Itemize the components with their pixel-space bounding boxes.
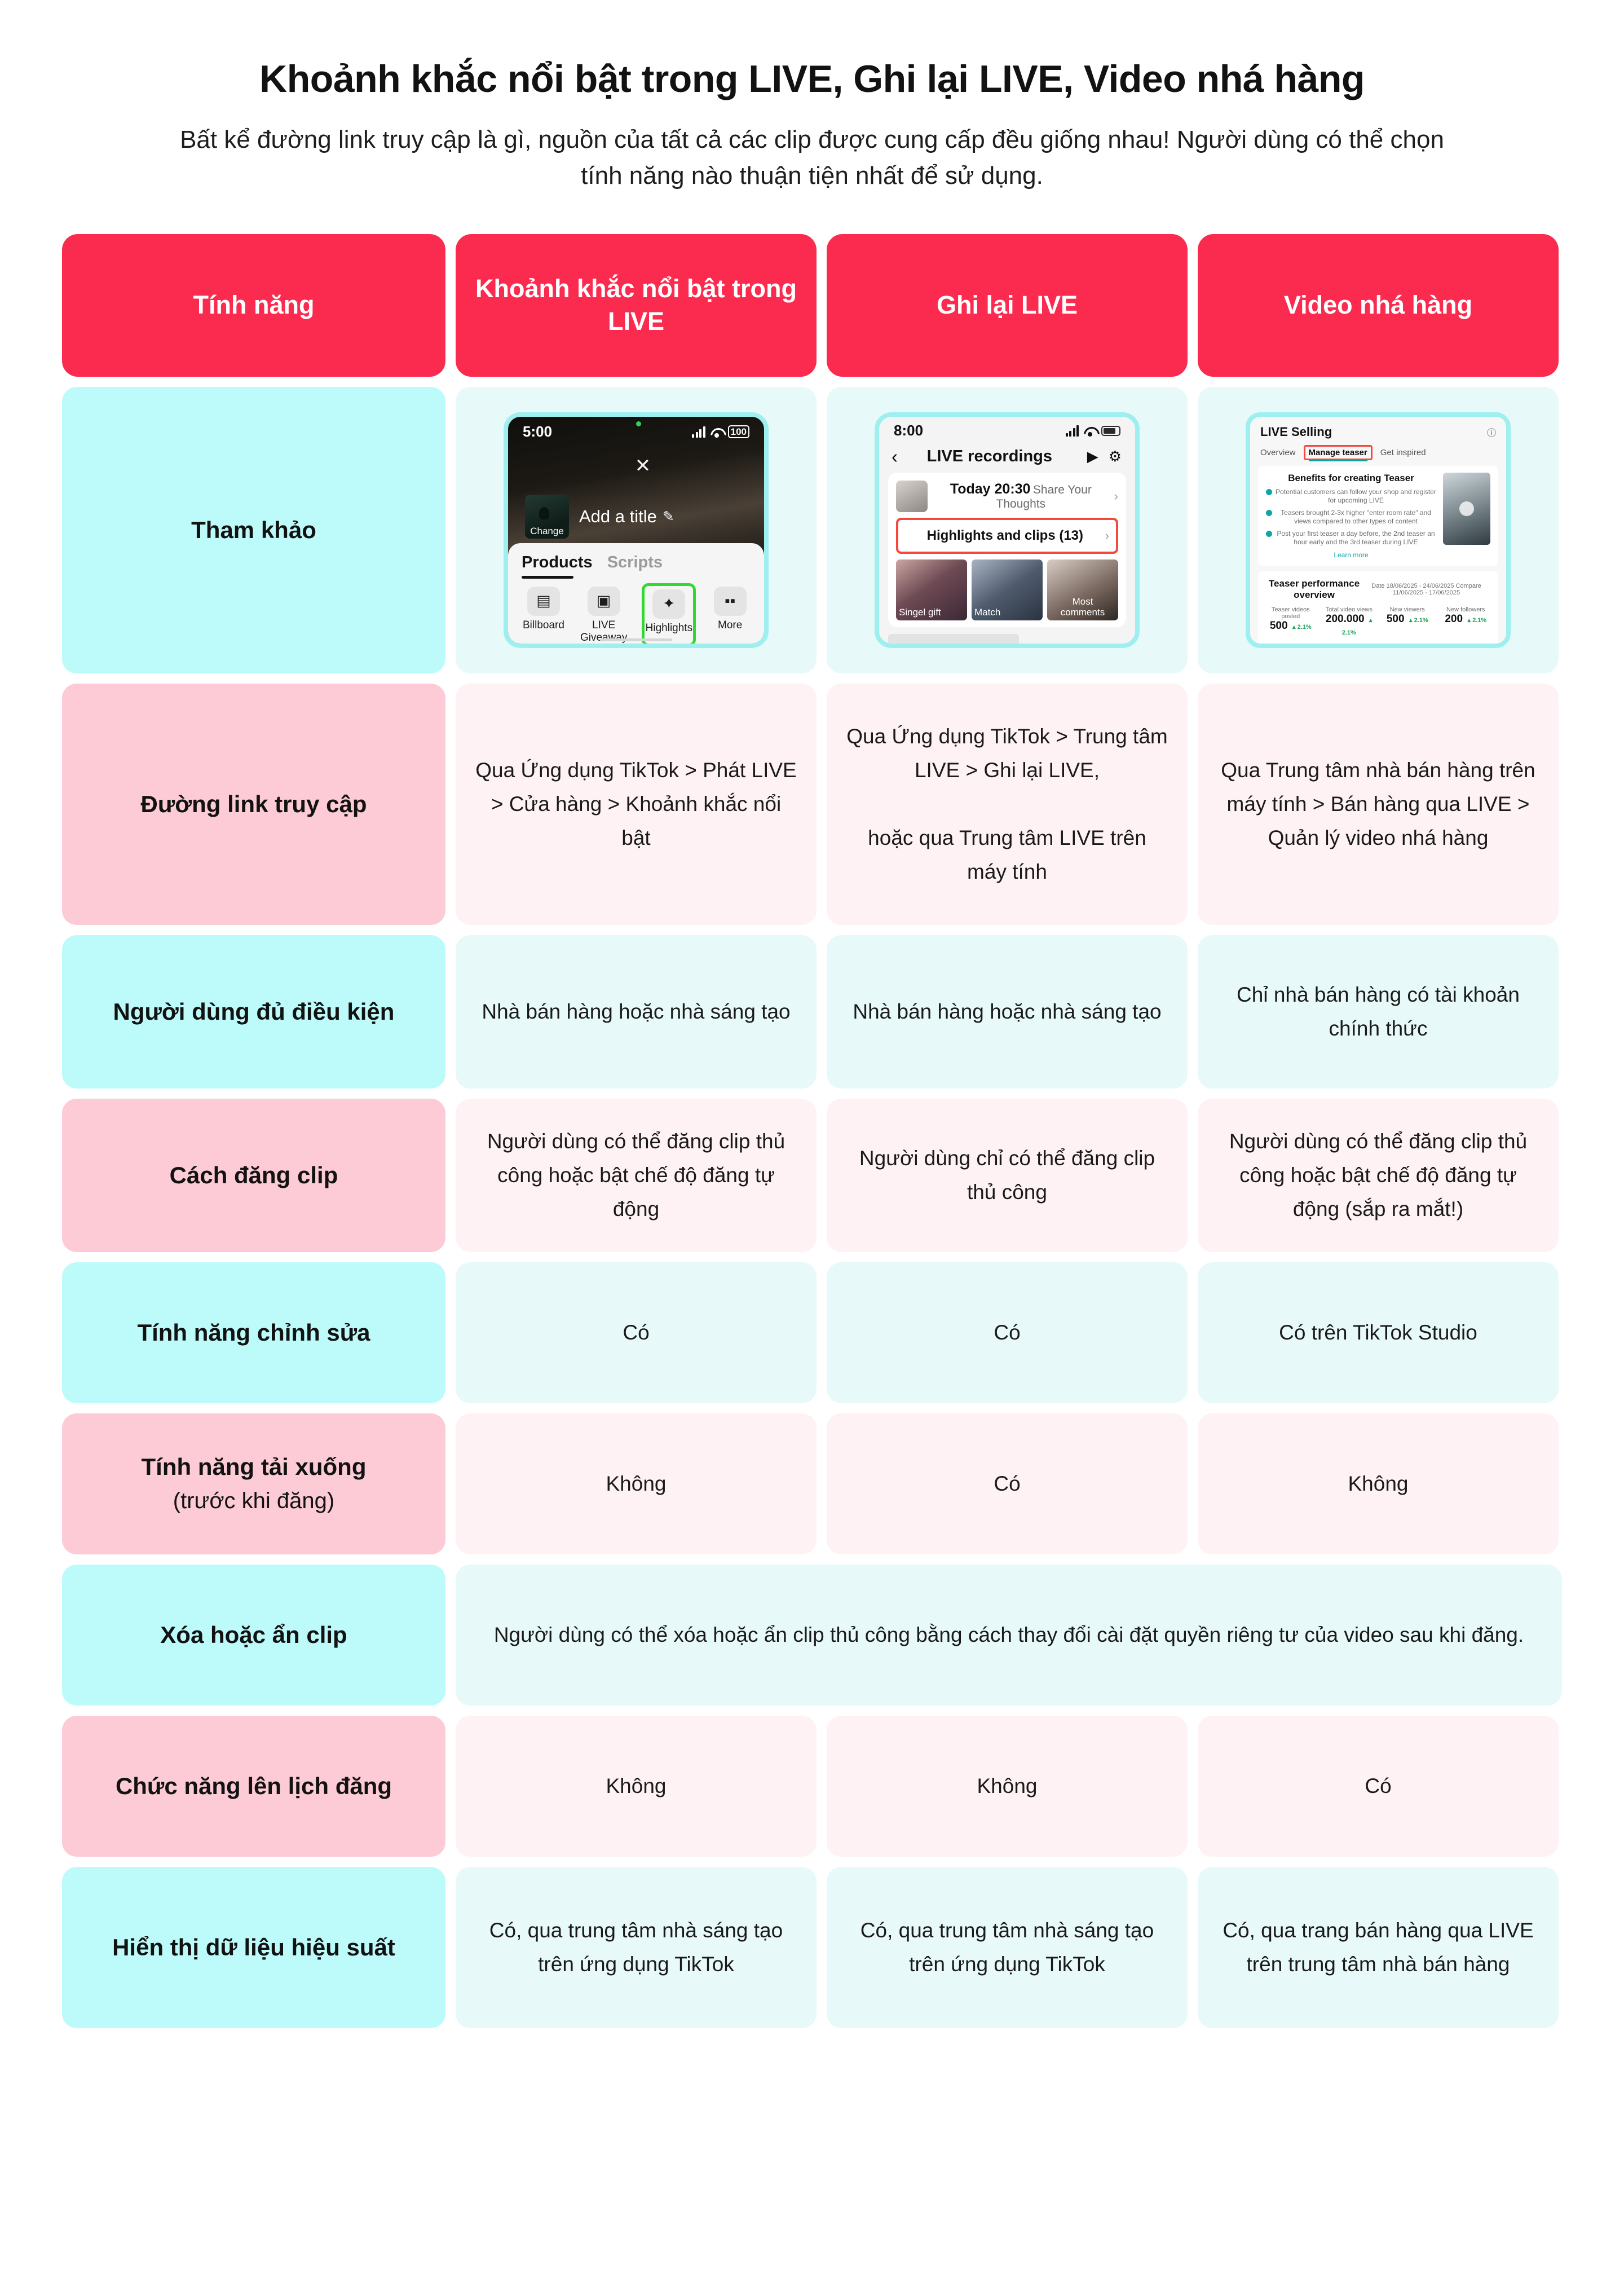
signal-icon [1066,425,1079,437]
table-row-editing-feature: Tính năng chỉnh sửa Có Có Có trên TikTok… [62,1262,1562,1403]
nav-bar: ‹ LIVE recordings ▶ ⚙ [879,445,1135,466]
cell-eligible-recordings: Nhà bán hàng hoặc nhà sáng tạo [827,935,1188,1089]
battery-icon: 100 [728,425,749,438]
clip-tile-label: Most comments [1047,594,1118,620]
page-subtitle: Bất kể đường link truy cập là gì, nguồn … [158,122,1466,193]
column-header-highlights: Khoảnh khắc nổi bật trong LIVE [456,234,817,377]
comparison-infographic-page: Khoảnh khắc nổi bật trong LIVE, Ghi lại … [0,0,1624,2291]
metric-name: New followers [1441,606,1491,613]
cover-thumbnail[interactable]: Change [525,495,569,539]
table-row-posting-method: Cách đăng clip Người dùng có thể đăng cl… [62,1099,1562,1252]
metric-new-viewers: New viewers 500 ▴ 2.1% [1383,606,1432,638]
tab-overview[interactable]: Overview [1260,448,1296,457]
chevron-right-icon: › [1105,528,1109,543]
chevron-right-icon: › [1114,489,1118,504]
table-row-reference: Tham khảo 5:00 100 ✕ [62,387,1562,673]
signal-icon [692,426,705,438]
clip-tile[interactable]: Match [972,559,1043,620]
cell-editing-recordings: Có [827,1262,1188,1403]
benefits-panel: Benefits for creating Teaser Potential c… [1258,466,1498,566]
cell-delete-hide-merged: Người dùng có thể xóa hoặc ẩn clip thủ c… [456,1565,1562,1706]
cell-posting-highlights: Người dùng có thể đăng clip thủ công hoặ… [456,1099,817,1252]
tool-label: Billboard [523,619,564,632]
close-icon[interactable]: ✕ [522,456,764,475]
nav-title: LIVE recordings [902,447,1077,466]
info-icon[interactable]: ⓘ [1487,425,1496,439]
clip-tile[interactable]: Singel gift [896,559,967,620]
benefit-text: Post your first teaser a day before, the… [1276,530,1436,547]
row-label-posting-method: Cách đăng clip [62,1099,445,1252]
add-title-field[interactable]: Add a title ✎ [579,506,674,527]
cell-schedule-recordings: Không [827,1716,1188,1857]
status-time: 8:00 [894,422,923,439]
performance-title: Teaser performance overview [1266,578,1362,601]
row-label-main: Tính năng tải xuống [142,1453,367,1480]
date-label: Date [1371,583,1384,589]
cell-editing-highlights: Có [456,1262,817,1403]
blurred-placeholder [888,634,1126,648]
row-label-reference: Tham khảo [62,387,445,673]
recording-card: Today 20:30 Share Your Thoughts › Highli… [888,473,1126,627]
table-header-row: Tính năng Khoảnh khắc nổi bật trong LIVE… [62,234,1562,377]
date-value[interactable]: 18/06/2025 - 24/06/2025 [1387,583,1454,589]
cell-download-highlights: Không [456,1413,817,1554]
change-cover-label: Change [530,526,564,539]
metric-teaser-videos-posted: Teaser videos posted 500 ▴ 2.1% [1266,606,1316,638]
row-label-delete-hide-clip: Xóa hoặc ẩn clip [62,1565,445,1706]
performance-panel: Teaser performance overview Date 18/06/2… [1258,571,1498,645]
compare-label: Compare [1456,583,1481,589]
cell-access-link-highlights: Qua Ứng dụng TikTok > Phát LIVE > Cửa hà… [456,684,817,925]
wifi-icon [710,427,723,437]
phone-status-bar: 8:00 [879,417,1135,445]
clip-tiles: Singel gift Match Most comments [896,559,1118,620]
tool-more[interactable]: ▪▪ More [709,583,751,646]
clip-icon[interactable]: ▶ [1087,448,1098,465]
metric-total-video-views: Total video views 200.000 ▴ 2.1% [1325,606,1374,638]
gear-icon[interactable]: ⚙ [1109,448,1122,465]
tool-highlights[interactable]: ✦ Highlights [642,583,696,646]
column-header-live-recordings: Ghi lại LIVE [827,234,1188,377]
clip-tile-label: Match [972,605,1003,620]
table-row-access-link: Đường link truy cập Qua Ứng dụng TikTok … [62,684,1562,925]
status-time: 5:00 [523,423,552,440]
learn-more-link[interactable]: Learn more [1266,551,1436,559]
tab-manage-teaser[interactable]: Manage teaser [1304,445,1373,460]
clip-tile[interactable]: Most comments [1047,559,1118,620]
tab-products[interactable]: Products [522,553,593,572]
cell-schedule-highlights: Không [456,1716,817,1857]
row-label-access-link: Đường link truy cập [62,684,445,925]
metric-name: Teaser videos posted [1266,606,1316,620]
row-label-schedule-feature: Chức năng lên lịch đăng [62,1716,445,1857]
table-row-eligible-users: Người dùng đủ điều kiện Nhà bán hàng hoặ… [62,935,1562,1089]
home-indicator [600,638,672,641]
cell-posting-teaser: Người dùng có thể đăng clip thủ công hoặ… [1198,1099,1559,1252]
table-row-performance-data: Hiển thị dữ liệu hiệu suất Có, qua trung… [62,1867,1562,2028]
desktop-mockup-live-selling: LIVE Selling ⓘ Overview Manage teaser Ge… [1246,412,1511,648]
grid-icon: ▪▪ [714,587,747,616]
cell-performance-highlights: Có, qua trung tâm nhà sáng tạo trên ứng … [456,1867,817,2028]
row-label-eligible-users: Người dùng đủ điều kiện [62,935,445,1089]
metric-value: 500 [1387,613,1405,625]
comparison-table: Tính năng Khoảnh khắc nổi bật trong LIVE… [62,234,1562,2028]
cell-eligible-highlights: Nhà bán hàng hoặc nhà sáng tạo [456,935,817,1089]
column-header-feature: Tính năng [62,234,445,377]
phone-status-bar: 5:00 100 [508,417,764,447]
table-row-delete-hide-clip: Xóa hoặc ẩn clip Người dùng có thể xóa h… [62,1565,1562,1706]
benefits-title: Benefits for creating Teaser [1266,473,1436,484]
recording-title: Today 20:30 [950,481,1031,497]
billboard-icon: ▤ [527,587,560,616]
mockup-cell-live-recordings: 8:00 ‹ LIVE recordings ▶ ⚙ [827,387,1188,673]
phone-mockup-live-recordings: 8:00 ‹ LIVE recordings ▶ ⚙ [875,412,1140,648]
bottom-sheet: Products Scripts ▤ Billboard ▣ [508,543,764,644]
metric-name: Total video views [1325,606,1374,613]
page-title: Khoảnh khắc nổi bật trong LIVE, Ghi lại … [158,56,1466,102]
metric-name: New viewers [1383,606,1432,613]
column-header-teaser-video: Video nhá hàng [1198,234,1559,377]
cell-posting-recordings: Người dùng chỉ có thể đăng clip thủ công [827,1099,1188,1252]
battery-icon [1101,426,1120,436]
add-title-label: Add a title [579,506,657,527]
highlights-and-clips-label: Highlights and clips (13) [905,528,1105,544]
mockup-cell-highlights: 5:00 100 ✕ Change [456,387,817,673]
tab-underline [522,576,573,579]
metric-value: 200 [1445,613,1463,625]
cell-eligible-teaser: Chỉ nhà bán hàng có tài khoản chính thức [1198,935,1559,1089]
metric-delta: ▴ 2.1% [1292,624,1312,631]
row-label-performance-data: Hiển thị dữ liệu hiệu suất [62,1867,445,2028]
cell-performance-teaser: Có, qua trang bán hàng qua LIVE trên tru… [1198,1867,1559,2028]
tool-label: Highlights [646,622,692,635]
tool-label: More [718,619,742,632]
wifi-icon [1084,426,1096,436]
metric-value: 200.000 [1326,613,1365,625]
table-row-download-feature: Tính năng tải xuống (trước khi đăng) Khô… [62,1413,1562,1554]
metric-new-followers: New followers 200 ▴ 2.1% [1441,606,1491,638]
tab-scripts[interactable]: Scripts [607,553,663,572]
check-icon [1266,531,1272,537]
clip-tile-label: Singel gift [896,605,944,620]
phone-mockup-live-studio: 5:00 100 ✕ Change [504,412,769,648]
cell-download-recordings: Có [827,1413,1188,1554]
benefit-text: Potential customers can follow your shop… [1276,488,1436,505]
mockup-cell-teaser-video: LIVE Selling ⓘ Overview Manage teaser Ge… [1198,387,1559,673]
table-row-schedule-feature: Chức năng lên lịch đăng Không Không Có [62,1716,1562,1857]
cell-performance-recordings: Có, qua trung tâm nhà sáng tạo trên ứng … [827,1867,1188,2028]
benefit-text: Teasers brought 2-3x higher "enter room … [1276,509,1436,526]
cell-schedule-teaser: Có [1198,1716,1559,1857]
highlights-and-clips-row[interactable]: Highlights and clips (13) › [896,518,1118,554]
compare-value[interactable]: 11/06/2025 - 17/06/2025 [1393,589,1460,596]
cell-access-link-recordings: Qua Ứng dụng TikTok > Trung tâm LIVE > G… [827,684,1188,925]
metric-value: 500 [1270,620,1288,632]
metric-delta: ▴ 2.1% [1468,617,1487,624]
pencil-icon: ✎ [663,508,674,525]
teaser-preview-video[interactable] [1443,473,1490,545]
check-icon [1266,489,1272,495]
recording-dot-icon [636,421,641,426]
row-label-editing-feature: Tính năng chỉnh sửa [62,1262,445,1403]
row-label-sub: (trước khi đăng) [142,1486,367,1517]
avatar [896,481,928,512]
giveaway-icon: ▣ [588,587,620,616]
tool-live-giveaway[interactable]: ▣ LIVE Giveaway [579,583,628,646]
recording-row[interactable]: Today 20:30 Share Your Thoughts › [896,481,1118,512]
tool-billboard[interactable]: ▤ Billboard [522,583,566,646]
cell-editing-teaser: Có trên TikTok Studio [1198,1262,1559,1403]
sparkle-icon: ✦ [652,589,685,619]
cell-download-teaser: Không [1198,1413,1559,1554]
tab-get-inspired[interactable]: Get inspired [1380,448,1426,457]
row-label-download-feature: Tính năng tải xuống (trước khi đăng) [62,1413,445,1554]
check-icon [1266,510,1272,516]
metric-delta: ▴ 2.1% [1409,617,1428,624]
cell-access-link-teaser: Qua Trung tâm nhà bán hàng trên máy tính… [1198,684,1559,925]
live-selling-title: LIVE Selling [1260,425,1332,439]
back-icon[interactable]: ‹ [892,447,898,466]
document-header: Khoảnh khắc nổi bật trong LIVE, Ghi lại … [0,0,1624,193]
